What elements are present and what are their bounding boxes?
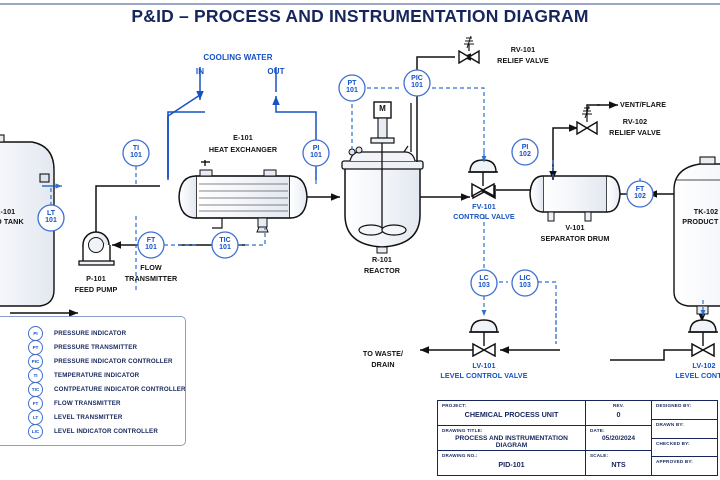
field-value: NTS	[590, 460, 647, 469]
title-block: PROJECT: CHEMICAL PROCESS UNIT DRAWING T…	[437, 400, 718, 476]
legend-symbol-lt: LT	[28, 410, 43, 425]
rv101-tag: RV-101	[490, 46, 556, 55]
field-key: REV.	[590, 403, 647, 408]
separator-name: SEPARATOR DRUM	[538, 235, 612, 244]
title-block-drawn-by: DRAWN BY:	[652, 420, 717, 439]
lv102-tag: LV-102	[664, 362, 720, 371]
rv102-tag: RV-102	[602, 118, 668, 127]
rv101-name: RELIEF VALVE	[490, 57, 556, 66]
instrument-type: PT	[348, 80, 357, 87]
legend-item: TIC CONTPEATURE INDICATOR CONTROLLER	[28, 382, 328, 396]
heat-exchanger-shape	[179, 160, 307, 232]
instrument-number: 101	[346, 87, 358, 94]
product-tank-tag: TK-102	[676, 208, 720, 217]
instrument-number: 102	[634, 193, 646, 200]
instrument-type: LIC	[519, 275, 530, 282]
instrument-number: 103	[519, 282, 531, 289]
field-key: CHECKED BY:	[656, 441, 713, 446]
field-key: DESIGNED BY:	[656, 403, 713, 408]
title-block-rev: REV. 0	[586, 401, 651, 426]
legend-item: FT FLOW TRANSMITTER	[28, 396, 328, 410]
instrument-type: LT	[47, 210, 55, 217]
field-key: DATE:	[590, 428, 647, 433]
title-block-column-main: PROJECT: CHEMICAL PROCESS UNIT DRAWING T…	[438, 401, 586, 475]
feed-tank-tag: TK-101	[0, 208, 28, 217]
feed-pump-shape	[79, 232, 114, 265]
legend-symbol-lic: LIC	[28, 424, 43, 439]
instrument-number: 101	[219, 244, 231, 251]
flow-transmitter-label-line1: FLOW	[121, 264, 181, 273]
pid-canvas: P&ID – PROCESS AND INSTRUMENTATION DIAGR…	[0, 0, 720, 480]
field-key: APPROVED BY:	[656, 459, 713, 464]
instrument-type: FT	[147, 237, 156, 244]
instrument-pi-101[interactable]: PI 101	[303, 145, 329, 160]
instrument-type: PIC	[411, 75, 423, 82]
legend-item: PT PRESSURE TRANSMITTER	[28, 340, 328, 354]
product-tank-name: PRODUCT TA	[676, 218, 720, 227]
legend-symbol-ft: FT	[28, 396, 43, 411]
lv101-name: LEVEL CONTROL VALVE	[434, 372, 534, 381]
fv101-name: CONTROL VALVE	[450, 213, 518, 222]
instrument-number: 101	[145, 244, 157, 251]
lv101-tag: LV-101	[444, 362, 524, 371]
title-block-approved-by: APPROVED BY:	[652, 457, 717, 475]
title-block-column-signoff: DESIGNED BY: DRAWN BY: CHECKED BY: APPRO…	[652, 401, 717, 475]
title-block-checked-by: CHECKED BY:	[652, 439, 717, 458]
title-block-designed-by: DESIGNED BY:	[652, 401, 717, 420]
instrument-pi-102[interactable]: PI 102	[512, 144, 538, 159]
instrument-number: 101	[130, 152, 142, 159]
legend-item: PIC PRESSURE INDICATOR CONTROLLER	[28, 354, 328, 368]
legend-item: LT LEVEL TRANSMITTER	[28, 411, 328, 425]
to-waste-label: TO WASTE/	[352, 350, 414, 359]
legend-items: PI PRESSURE INDICATOR PT PRESSURE TRANSM…	[28, 326, 328, 439]
instrument-number: 101	[310, 152, 322, 159]
title-block-project: PROJECT: CHEMICAL PROCESS UNIT	[438, 401, 585, 426]
instrument-pt-101[interactable]: PT 101	[339, 80, 365, 95]
rv102-name: RELIEF VALVE	[602, 129, 668, 138]
instrument-lic-103[interactable]: LIC 103	[512, 275, 538, 290]
reactor-shape	[342, 102, 423, 253]
field-key: PROJECT:	[442, 403, 581, 408]
instrument-type: LC	[479, 275, 488, 282]
instrument-number: 101	[45, 217, 57, 224]
title-block-date: DATE: 05/20/2024	[586, 426, 651, 451]
legend-label: LEVEL TRANSMITTER	[54, 414, 122, 421]
instrument-ft-102[interactable]: FT 102	[627, 186, 653, 201]
legend-item: TI TEMPERATURE INDICATOR	[28, 368, 328, 382]
instrument-number: 102	[519, 151, 531, 158]
product-tank-shape	[674, 157, 720, 306]
field-value: 0	[590, 410, 647, 419]
separator-tag: V-101	[538, 224, 612, 233]
feed-tank-name: FEED TANK	[0, 218, 28, 227]
legend-line-type-1: NAL	[0, 336, 24, 351]
legend-symbol-pi: PI	[28, 326, 43, 341]
reactor-tag: R-101	[352, 256, 412, 265]
legend-item: PI PRESSURE INDICATOR	[28, 326, 328, 340]
cooling-water-label: COOLING WATER	[188, 54, 288, 63]
legend-symbol-ti: TI	[28, 368, 43, 383]
title-block-scale: SCALE: NTS	[586, 451, 651, 475]
instrument-type: TI	[133, 145, 139, 152]
legend-symbol-pt: PT	[28, 340, 43, 355]
lv102-name: LEVEL CONTRO	[658, 372, 720, 381]
instrument-number: 101	[411, 82, 423, 89]
field-value: 05/20/2024	[590, 435, 647, 442]
field-value: PROCESS AND INSTRUMENTATION DIAGRAM	[442, 435, 581, 449]
cooling-water-out-label: OUT	[260, 68, 292, 77]
field-key: DRAWN BY:	[656, 422, 713, 427]
legend-label: PRESSURE INDICATOR CONTROLLER	[54, 358, 173, 365]
title-block-drawing-title: DRAWING TITLE: PROCESS AND INSTRUMENTATI…	[438, 426, 585, 451]
fv101-valve-shape	[468, 160, 498, 198]
legend-label: LEVEL INDICATOR CONTROLLER	[54, 428, 158, 435]
legend-line-type-2	[0, 351, 24, 366]
legend-label: PRESSURE INDICATOR	[54, 330, 126, 337]
instrument-type: PI	[522, 144, 529, 151]
vent-flare-label: VENT/FLARE	[620, 101, 690, 110]
instrument-number: 103	[478, 282, 490, 289]
instrument-ti-101[interactable]: TI 101	[123, 145, 149, 160]
title-block-drawing-no: DRAWING NO.: PID-101	[438, 451, 585, 475]
field-key: SCALE:	[590, 453, 647, 458]
legend-symbol-pic: PIC	[28, 354, 43, 369]
legend-line-types: NAL	[0, 336, 24, 365]
pump-tag: P-101	[66, 275, 126, 284]
title-block-column-rev: REV. 0 DATE: 05/20/2024 SCALE: NTS	[586, 401, 652, 475]
instrument-ft-101[interactable]: FT 101	[138, 237, 164, 252]
instrument-lt-101[interactable]: LT 101	[38, 210, 64, 225]
exchanger-name: HEAT EXCHANGER	[198, 146, 288, 155]
exchanger-tag: E-101	[198, 134, 288, 143]
instrument-type: PI	[313, 145, 320, 152]
field-value: CHEMICAL PROCESS UNIT	[442, 410, 581, 419]
reactor-name: REACTOR	[352, 267, 412, 276]
flow-transmitter-label-line2: TRANSMITTER	[121, 275, 181, 284]
instrument-type: FT	[636, 186, 645, 193]
rv101-shape	[459, 36, 479, 63]
instrument-type: TIC	[219, 237, 230, 244]
pump-name: FEED PUMP	[66, 286, 126, 295]
fv101-tag: FV-101	[450, 203, 518, 212]
legend-item: LIC LEVEL INDICATOR CONTROLLER	[28, 425, 328, 439]
instrument-lc-103[interactable]: LC 103	[471, 275, 497, 290]
field-value: PID-101	[442, 460, 581, 469]
legend-label: FLOW TRANSMITTER	[54, 400, 121, 407]
legend-label: CONTPEATURE INDICATOR CONTROLLER	[54, 386, 186, 393]
instrument-pic-101[interactable]: PIC 101	[404, 75, 430, 90]
field-key: DRAWING NO.:	[442, 453, 581, 458]
field-key: DRAWING TITLE:	[442, 428, 581, 433]
reactor-motor-label: M	[374, 105, 391, 114]
separator-drum-shape	[530, 176, 620, 221]
legend-symbol-tic: TIC	[28, 382, 43, 397]
lv101-valve-shape	[469, 320, 499, 356]
legend-label: TEMPERATURE INDICATOR	[54, 372, 139, 379]
instrument-tic-101[interactable]: TIC 101	[212, 237, 238, 252]
lv102-valve-shape	[688, 320, 718, 356]
legend-label: PRESSURE TRANSMITTER	[54, 344, 137, 351]
cooling-water-in-label: IN	[186, 68, 214, 77]
to-drain-label: DRAIN	[352, 361, 414, 370]
